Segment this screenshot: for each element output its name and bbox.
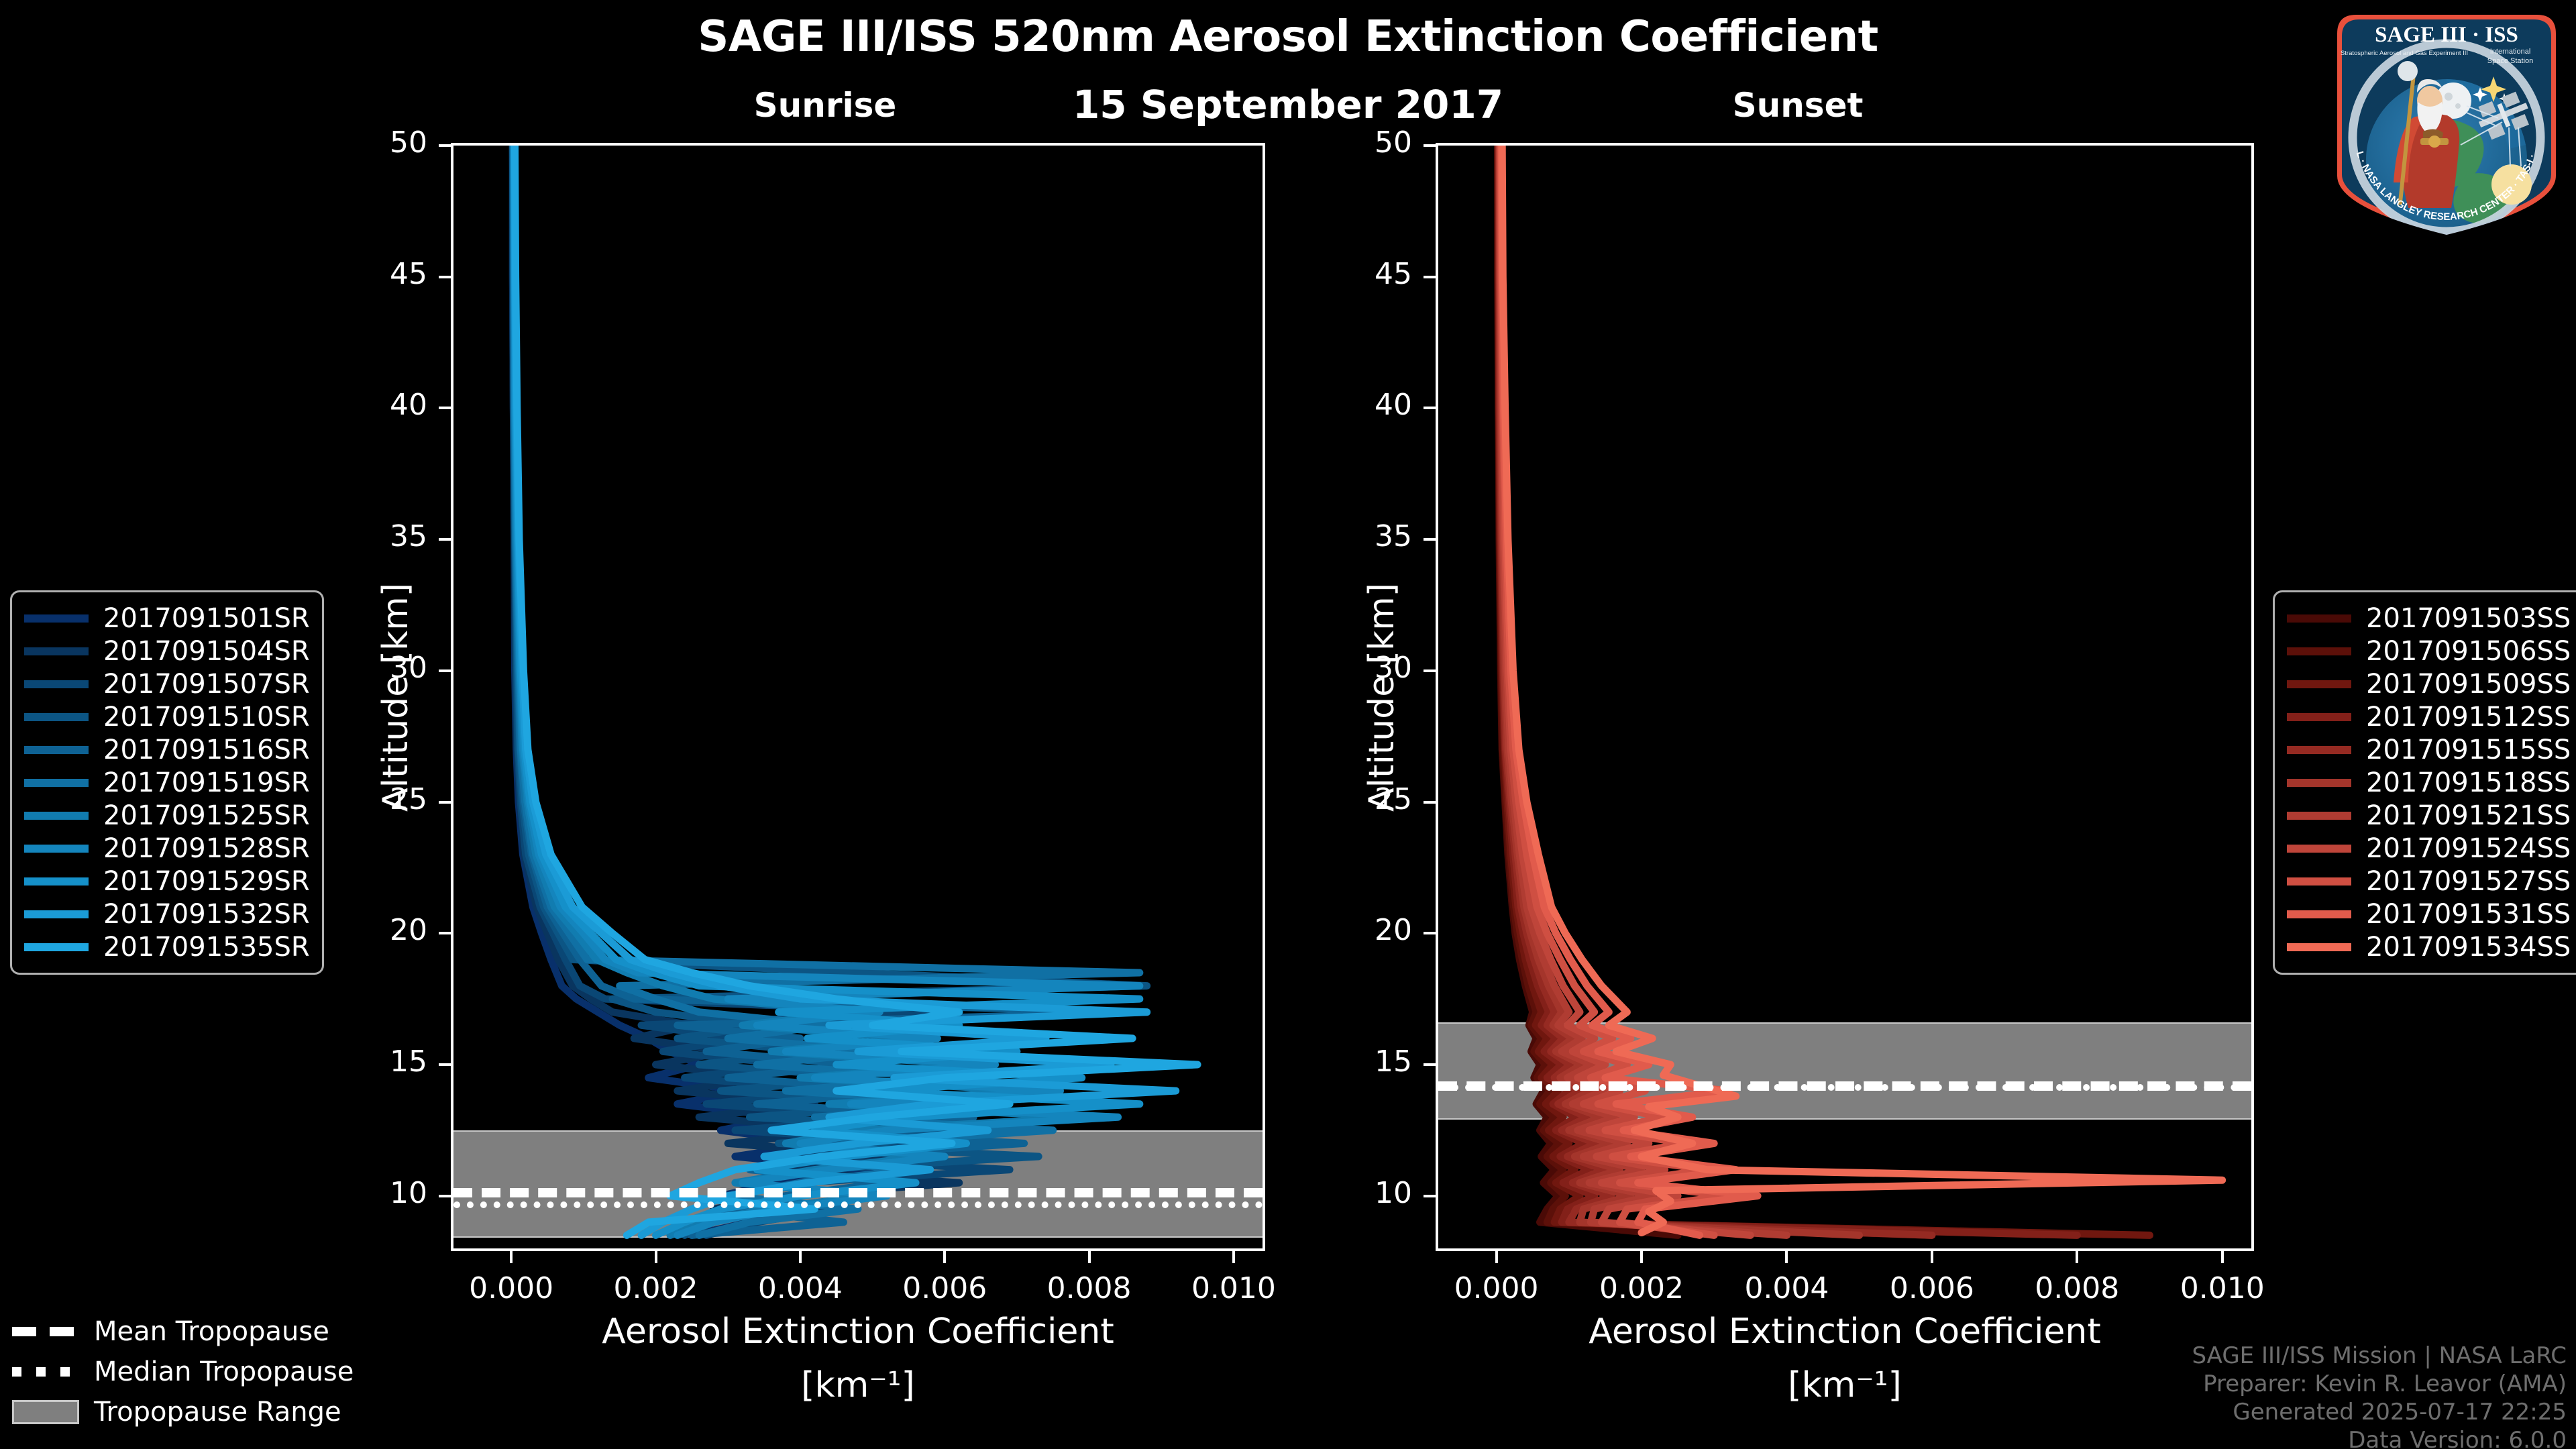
legend-item-label: 2017091524SS xyxy=(2366,833,2571,864)
logo-title: SAGE III · ISS xyxy=(2375,23,2518,47)
sunrise-legend-item[interactable]: 2017091501SR xyxy=(24,602,310,635)
sunset-median-tropopause-line xyxy=(1438,1084,2251,1091)
moon-crater xyxy=(2445,93,2453,101)
legend-item-label: 2017091535SR xyxy=(103,932,310,963)
y-tick-mark xyxy=(1424,276,1436,278)
x-tick-mark xyxy=(2221,1251,2224,1263)
x-tick-mark xyxy=(510,1251,513,1263)
legend-item-label: 2017091506SS xyxy=(2366,636,2571,667)
logo-subtitle-right-1: International xyxy=(2490,48,2531,56)
y-tick-mark xyxy=(1424,144,1436,147)
legend-item-label: 2017091504SR xyxy=(103,636,310,667)
tropopause-legend-swatch-patch xyxy=(12,1400,79,1424)
y-tick-mark xyxy=(439,276,451,278)
sunrise-legend-item[interactable]: 2017091532SR xyxy=(24,898,310,930)
legend-color-swatch xyxy=(24,614,89,623)
sunset-legend-item[interactable]: 2017091509SS xyxy=(2287,667,2571,700)
y-tick-mark xyxy=(439,407,451,409)
sunrise-series-layer xyxy=(453,146,1263,1248)
legend-item-label: 2017091507SR xyxy=(103,669,310,700)
sunset-legend-item[interactable]: 2017091515SS xyxy=(2287,733,2571,766)
legend-color-swatch xyxy=(2287,943,2351,951)
legend-color-swatch xyxy=(24,746,89,754)
credits-block: SAGE III/ISS Mission | NASA LaRC Prepare… xyxy=(2192,1342,2567,1449)
y-tick-label: 10 xyxy=(1295,1176,1412,1210)
legend-item-label: 2017091521SS xyxy=(2366,800,2571,831)
legend-color-swatch xyxy=(24,910,89,918)
legend-color-swatch xyxy=(2287,746,2351,754)
sunset-legend-item[interactable]: 2017091506SS xyxy=(2287,635,2571,667)
sunrise-x-axis-units: [km⁻¹] xyxy=(451,1365,1265,1405)
credits-line-generated: Generated 2025-07-17 22:25 xyxy=(2192,1398,2567,1426)
sunrise-legend-item[interactable]: 2017091504SR xyxy=(24,635,310,667)
x-tick-mark xyxy=(1088,1251,1091,1263)
sunset-legend-item[interactable]: 2017091534SS xyxy=(2287,930,2571,963)
legend-color-swatch xyxy=(24,713,89,721)
x-tick-label: 0.010 xyxy=(1140,1271,1328,1305)
y-tick-mark xyxy=(439,538,451,541)
sunrise-median-tropopause-line xyxy=(453,1201,1263,1208)
y-tick-label: 20 xyxy=(310,913,427,947)
figure-subtitle: 15 September 2017 xyxy=(0,82,2576,127)
sunset-x-axis-title: Aerosol Extinction Coefficient xyxy=(1436,1311,2254,1352)
legend-item-label: 2017091503SS xyxy=(2366,603,2571,634)
x-tick-mark xyxy=(1785,1251,1788,1263)
sunset-legend-item[interactable]: 2017091527SS xyxy=(2287,865,2571,898)
logo-subtitle-left: Stratospheric Aerosol and Gas Experiment… xyxy=(2341,50,2468,57)
sunrise-legend-item[interactable]: 2017091525SR xyxy=(24,799,310,832)
legend-item-label: 2017091519SR xyxy=(103,767,310,798)
y-tick-mark xyxy=(1424,932,1436,934)
legend-color-swatch xyxy=(24,812,89,820)
x-tick-label: 0.010 xyxy=(2129,1271,2316,1305)
x-tick-mark xyxy=(943,1251,946,1263)
y-tick-label: 35 xyxy=(1295,519,1412,553)
legend-item-label: 2017091515SS xyxy=(2366,735,2571,765)
y-tick-mark xyxy=(439,932,451,934)
sunrise-legend-item[interactable]: 2017091528SR xyxy=(24,832,310,865)
tropopause-legend-label: Tropopause Range xyxy=(94,1397,341,1428)
y-tick-label: 10 xyxy=(310,1176,427,1210)
sunset-legend-item[interactable]: 2017091521SS xyxy=(2287,799,2571,832)
credits-line-version: Data Version: 6.0.0 xyxy=(2192,1426,2567,1449)
moon-crater-2 xyxy=(2455,103,2461,109)
credits-line-preparer: Preparer: Kevin R. Leavor (AMA) xyxy=(2192,1370,2567,1398)
legend-color-swatch xyxy=(2287,647,2351,655)
legend-item-label: 2017091525SR xyxy=(103,800,310,831)
y-tick-label: 40 xyxy=(310,388,427,422)
sunrise-mean-tropopause-line xyxy=(453,1188,1263,1197)
legend-item-label: 2017091518SS xyxy=(2366,767,2571,798)
sunrise-y-axis-title: Altitude [km] xyxy=(376,583,416,812)
legend-color-swatch xyxy=(24,845,89,853)
sunset-y-axis-title: Altitude [km] xyxy=(1362,583,1402,812)
legend-item-label: 2017091534SS xyxy=(2366,932,2571,963)
legend-item-label: 2017091509SS xyxy=(2366,669,2571,700)
y-tick-label: 15 xyxy=(1295,1044,1412,1079)
x-tick-mark xyxy=(1931,1251,1933,1263)
tropopause-legend-label: Mean Tropopause xyxy=(94,1316,329,1347)
figure-root: SAGE III/ISS 520nm Aerosol Extinction Co… xyxy=(0,0,2576,1449)
legend-item-label: 2017091529SR xyxy=(103,866,310,897)
sunrise-legend-item[interactable]: 2017091510SR xyxy=(24,700,310,733)
legend-color-swatch xyxy=(2287,680,2351,688)
legend-color-swatch xyxy=(24,943,89,951)
sunrise-x-axis-title: Aerosol Extinction Coefficient xyxy=(451,1311,1265,1352)
logo-subtitle-right-2: Space Station xyxy=(2487,57,2534,65)
y-tick-label: 35 xyxy=(310,519,427,553)
tropopause-legend: Mean TropopauseMedian TropopauseTropopau… xyxy=(12,1311,354,1432)
legend-color-swatch xyxy=(24,877,89,885)
legend-item-label: 2017091528SR xyxy=(103,833,310,864)
legend-color-swatch xyxy=(2287,910,2351,918)
y-tick-mark xyxy=(1424,801,1436,804)
sunset-legend-item[interactable]: 2017091524SS xyxy=(2287,832,2571,865)
legend-color-swatch xyxy=(24,647,89,655)
tropopause-legend-item: Median Tropopause xyxy=(12,1352,354,1392)
y-tick-mark xyxy=(439,144,451,147)
x-tick-mark xyxy=(1232,1251,1235,1263)
tropopause-legend-label: Median Tropopause xyxy=(94,1356,354,1387)
y-tick-mark xyxy=(1424,1195,1436,1197)
legend-item-label: 2017091512SS xyxy=(2366,702,2571,733)
sunset-legend-item[interactable]: 2017091518SS xyxy=(2287,766,2571,799)
tropopause-legend-item: Mean Tropopause xyxy=(12,1311,354,1352)
sunrise-legend-item[interactable]: 2017091529SR xyxy=(24,865,310,898)
y-tick-label: 45 xyxy=(1295,257,1412,291)
legend-item-label: 2017091516SR xyxy=(103,735,310,765)
sunset-x-axis-units: [km⁻¹] xyxy=(1436,1365,2254,1405)
sunset-legend-item[interactable]: 2017091531SS xyxy=(2287,898,2571,930)
legend-item-label: 2017091532SR xyxy=(103,899,310,930)
legend-color-swatch xyxy=(2287,845,2351,853)
legend-item-label: 2017091531SS xyxy=(2366,899,2571,930)
y-tick-mark xyxy=(1424,407,1436,409)
sunset-panel-heading: Sunset xyxy=(1597,86,1999,125)
legend-item-label: 2017091510SR xyxy=(103,702,310,733)
sunset-legend-item[interactable]: 2017091503SS xyxy=(2287,602,2571,635)
sunrise-plot-area xyxy=(451,143,1265,1251)
y-tick-mark xyxy=(1424,1063,1436,1066)
y-tick-mark xyxy=(439,1063,451,1066)
legend-color-swatch xyxy=(2287,812,2351,820)
sunrise-legend[interactable]: 2017091501SR2017091504SR2017091507SR2017… xyxy=(10,590,324,975)
credits-line-mission: SAGE III/ISS Mission | NASA LaRC xyxy=(2192,1342,2567,1370)
sunrise-legend-item[interactable]: 2017091535SR xyxy=(24,930,310,963)
x-tick-mark xyxy=(2076,1251,2078,1263)
y-tick-label: 50 xyxy=(310,125,427,160)
sunrise-legend-item[interactable]: 2017091516SR xyxy=(24,733,310,766)
legend-color-swatch xyxy=(24,680,89,688)
tropopause-legend-item: Tropopause Range xyxy=(12,1392,354,1432)
sunrise-legend-item[interactable]: 2017091519SR xyxy=(24,766,310,799)
legend-color-swatch xyxy=(2287,614,2351,623)
legend-color-swatch xyxy=(24,779,89,787)
legend-color-swatch xyxy=(2287,713,2351,721)
legend-color-swatch xyxy=(2287,877,2351,885)
y-tick-mark xyxy=(1424,538,1436,541)
sunset-plot-area xyxy=(1436,143,2254,1251)
y-tick-mark xyxy=(1424,669,1436,672)
y-tick-label: 45 xyxy=(310,257,427,291)
x-tick-mark xyxy=(655,1251,657,1263)
y-tick-label: 50 xyxy=(1295,125,1412,160)
sunset-legend[interactable]: 2017091503SS2017091506SS2017091509SS2017… xyxy=(2273,590,2576,975)
page-title: SAGE III/ISS 520nm Aerosol Extinction Co… xyxy=(0,12,2576,62)
y-tick-mark xyxy=(439,1195,451,1197)
y-tick-label: 15 xyxy=(310,1044,427,1079)
legend-item-label: 2017091501SR xyxy=(103,603,310,634)
y-tick-mark xyxy=(439,801,451,804)
y-tick-mark xyxy=(439,669,451,672)
x-tick-mark xyxy=(1640,1251,1643,1263)
sage-iii-iss-mission-patch-logo: SAGE III · ISS Stratospheric Aerosol and… xyxy=(2329,7,2564,241)
y-tick-label: 40 xyxy=(1295,388,1412,422)
legend-item-label: 2017091527SS xyxy=(2366,866,2571,897)
sunrise-panel-heading: Sunrise xyxy=(624,86,1026,125)
x-tick-mark xyxy=(1495,1251,1498,1263)
tropopause-legend-swatch-dashed xyxy=(12,1327,79,1336)
sunrise-legend-item[interactable]: 2017091507SR xyxy=(24,667,310,700)
legend-color-swatch xyxy=(2287,779,2351,787)
sunset-legend-item[interactable]: 2017091512SS xyxy=(2287,700,2571,733)
x-tick-mark xyxy=(799,1251,802,1263)
y-tick-label: 20 xyxy=(1295,913,1412,947)
tropopause-legend-swatch-dotted xyxy=(12,1367,79,1377)
